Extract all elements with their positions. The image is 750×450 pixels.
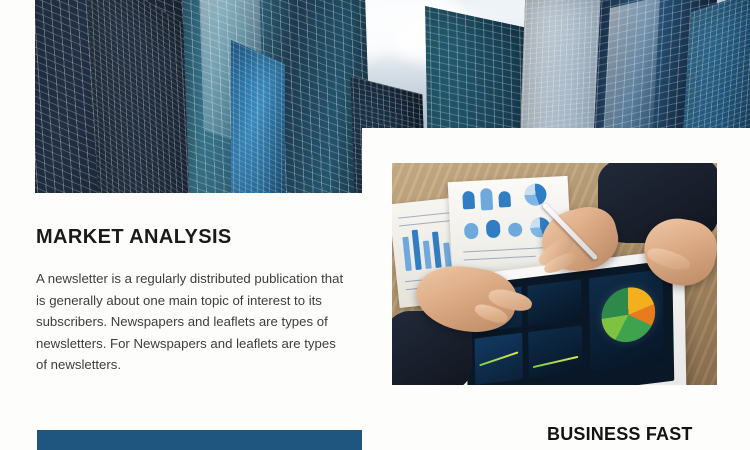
accent-bar: [37, 430, 362, 450]
article-body-text: A newsletter is a regularly distributed …: [36, 268, 348, 376]
window-grid: [231, 40, 285, 193]
business-meeting-image: [392, 163, 717, 385]
brand-label: BUSINESS FAST: [547, 424, 693, 445]
tower-shape: [231, 40, 285, 193]
page-title: MARKET ANALYSIS: [36, 226, 232, 249]
layout-mask: [0, 0, 35, 200]
newsletter-page: MARKET ANALYSIS A newsletter is a regula…: [0, 0, 750, 450]
